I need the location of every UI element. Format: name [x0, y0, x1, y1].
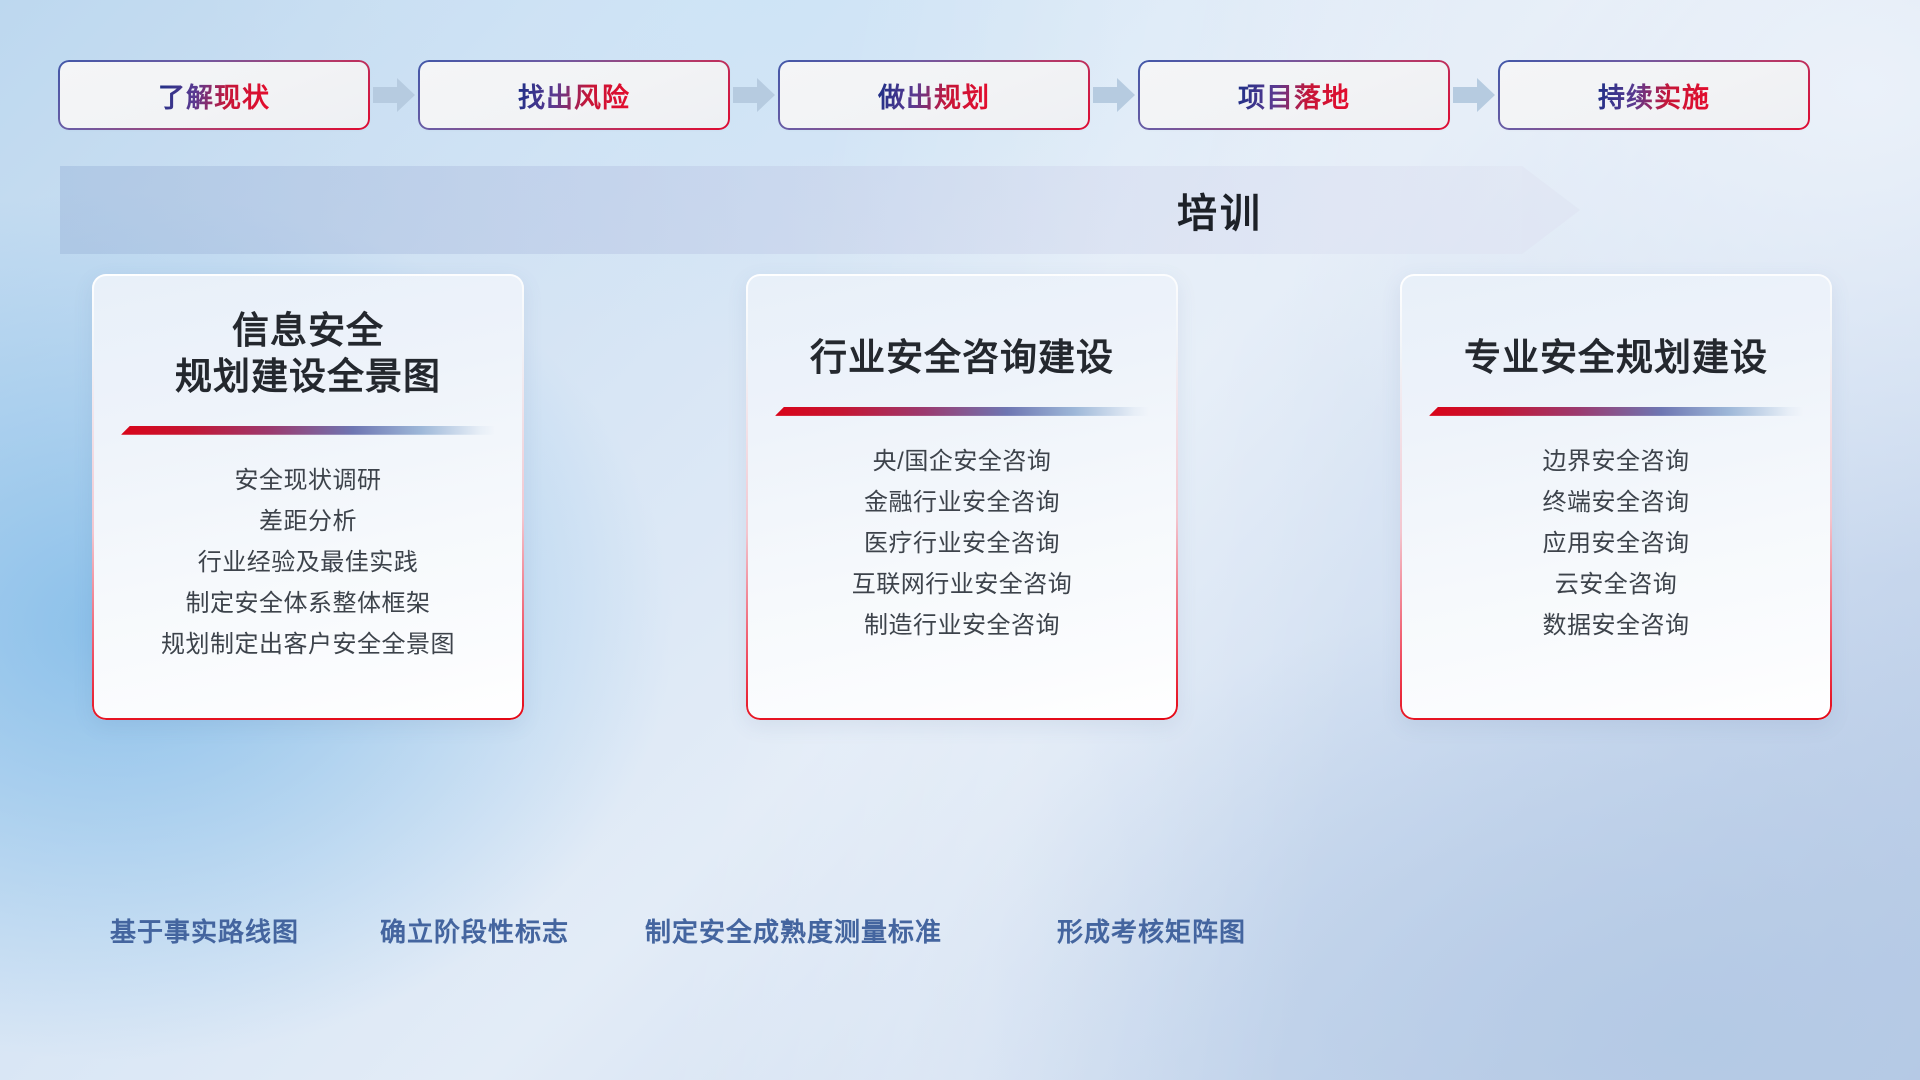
process-step-3-label: 做出规划: [878, 76, 990, 115]
process-step-4[interactable]: 项目落地: [1140, 62, 1448, 128]
list-item: 云安全咨询: [1422, 573, 1810, 597]
card-3-title-line-1: 专业安全规划建设: [1464, 335, 1768, 381]
process-step-5-label: 持续实施: [1598, 76, 1710, 115]
list-item: 央/国企安全咨询: [768, 450, 1156, 474]
list-item: 应用安全咨询: [1422, 532, 1810, 556]
training-band-label: 培训: [1177, 181, 1263, 239]
list-item: 数据安全咨询: [1422, 614, 1810, 638]
training-band: 培训: [60, 166, 1522, 254]
arrow-right-icon: [728, 73, 780, 117]
footnote-1: 基于事实路线图: [110, 912, 299, 949]
card-1[interactable]: 信息安全 规划建设全景图 安全现状调研 差距分析 行业经验及最佳实践 制定安全体…: [92, 274, 524, 720]
process-step-1[interactable]: 了解现状: [60, 62, 368, 128]
process-step-5[interactable]: 持续实施: [1500, 62, 1808, 128]
card-2-list: 央/国企安全咨询 金融行业安全咨询 医疗行业安全咨询 互联网行业安全咨询 制造行…: [768, 450, 1156, 638]
card-row: 信息安全 规划建设全景图 安全现状调研 差距分析 行业经验及最佳实践 制定安全体…: [92, 274, 1832, 720]
footnote-2: 确立阶段性标志: [380, 912, 569, 949]
list-item: 行业经验及最佳实践: [114, 551, 502, 575]
list-item: 差距分析: [114, 510, 502, 534]
list-item: 金融行业安全咨询: [768, 491, 1156, 515]
card-1-list: 安全现状调研 差距分析 行业经验及最佳实践 制定安全体系整体框架 规划制定出客户…: [114, 469, 502, 657]
arrow-right-icon: [1088, 73, 1140, 117]
card-1-title-line-2: 规划建设全景图: [175, 354, 441, 400]
card-3-accent-rule: [1429, 407, 1803, 416]
arrow-right-icon: [1448, 73, 1500, 117]
card-1-accent-rule: [121, 426, 495, 435]
card-2-accent-rule: [775, 407, 1149, 416]
process-step-2[interactable]: 找出风险: [420, 62, 728, 128]
process-step-4-label: 项目落地: [1238, 76, 1350, 115]
list-item: 终端安全咨询: [1422, 491, 1810, 515]
training-band-arrow-icon: [1522, 166, 1580, 254]
process-step-3[interactable]: 做出规划: [780, 62, 1088, 128]
process-step-2-label: 找出风险: [518, 76, 630, 115]
card-2-title-line-1: 行业安全咨询建设: [810, 335, 1114, 381]
list-item: 边界安全咨询: [1422, 450, 1810, 474]
card-3[interactable]: 专业安全规划建设 边界安全咨询 终端安全咨询 应用安全咨询 云安全咨询 数据安全…: [1400, 274, 1832, 720]
list-item: 规划制定出客户安全全景图: [114, 633, 502, 657]
arrow-right-icon: [368, 73, 420, 117]
list-item: 制定安全体系整体框架: [114, 592, 502, 616]
card-2[interactable]: 行业安全咨询建设 央/国企安全咨询 金融行业安全咨询 医疗行业安全咨询 互联网行…: [746, 274, 1178, 720]
card-1-title-line-1: 信息安全: [175, 308, 441, 354]
card-2-title: 行业安全咨询建设: [810, 335, 1114, 381]
card-3-list: 边界安全咨询 终端安全咨询 应用安全咨询 云安全咨询 数据安全咨询: [1422, 450, 1810, 638]
footnote-4: 形成考核矩阵图: [1057, 912, 1246, 949]
footnote-row: 基于事实路线图 确立阶段性标志 制定安全成熟度测量标准 形成考核矩阵图: [0, 912, 1920, 956]
process-step-1-label: 了解现状: [158, 76, 270, 115]
slide-canvas: 了解现状 找出风险 做出规划 项目落地: [0, 0, 1920, 1080]
list-item: 安全现状调研: [114, 469, 502, 493]
list-item: 医疗行业安全咨询: [768, 532, 1156, 556]
list-item: 互联网行业安全咨询: [768, 573, 1156, 597]
card-3-title: 专业安全规划建设: [1464, 335, 1768, 381]
list-item: 制造行业安全咨询: [768, 614, 1156, 638]
card-1-title: 信息安全 规划建设全景图: [175, 308, 441, 400]
process-step-row: 了解现状 找出风险 做出规划 项目落地: [60, 60, 1860, 130]
footnote-3: 制定安全成熟度测量标准: [645, 912, 942, 949]
